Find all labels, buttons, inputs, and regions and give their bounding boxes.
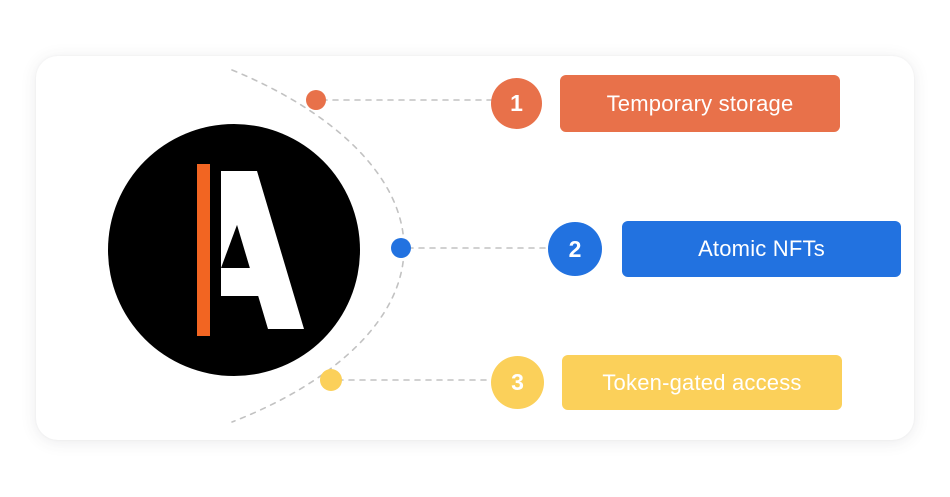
step-number-3: 3 <box>511 369 524 396</box>
step-label-bar-1[interactable]: Temporary storage <box>560 75 840 132</box>
step-label-2: Atomic NFTs <box>698 236 825 262</box>
list-item[interactable]: 2 Atomic NFTs <box>548 221 901 277</box>
step-number-badge-1[interactable]: 1 <box>491 78 542 129</box>
step-label-1: Temporary storage <box>607 91 794 117</box>
step-number-badge-3[interactable]: 3 <box>491 356 544 409</box>
step-label-bar-2[interactable]: Atomic NFTs <box>622 221 901 277</box>
infographic-canvas: 1 Temporary storage 2 Atomic NFTs 3 Toke… <box>0 0 950 497</box>
brand-logo <box>108 124 360 376</box>
step-label-bar-3[interactable]: Token-gated access <box>562 355 842 410</box>
list-item[interactable]: 1 Temporary storage <box>491 75 840 132</box>
step-label-3: Token-gated access <box>602 370 801 396</box>
list-item[interactable]: 3 Token-gated access <box>491 355 842 410</box>
step-number-1: 1 <box>510 90 523 117</box>
logo-mark-icon <box>108 124 360 376</box>
step-number-2: 2 <box>569 236 582 263</box>
step-number-badge-2[interactable]: 2 <box>548 222 602 276</box>
